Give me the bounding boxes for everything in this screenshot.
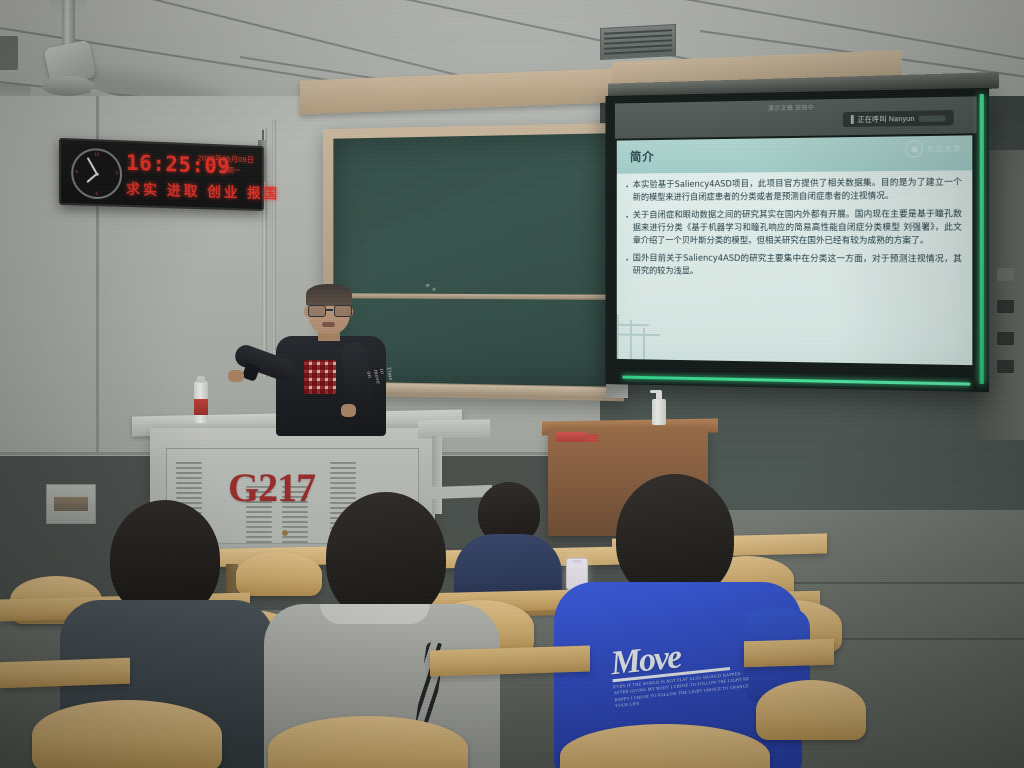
call-indicator-icon xyxy=(850,115,853,124)
desk-row xyxy=(430,645,590,676)
hand-sanitizer-bottle xyxy=(652,399,666,425)
led-date-display: 2022年05月09日 xyxy=(198,152,255,165)
os-taskbar[interactable]: 演示文稿 放映中 正在呼叫 Nanyun xyxy=(615,96,977,138)
clock-numeral-12: 12 xyxy=(94,151,99,156)
shirt-collar xyxy=(320,604,430,624)
red-box-small xyxy=(586,434,598,442)
logo-ring-icon xyxy=(905,140,922,158)
chair[interactable] xyxy=(32,700,222,768)
logo-text: 东北大学 xyxy=(927,143,962,154)
podium-side-shelf xyxy=(418,419,490,438)
clock-minute-hand xyxy=(87,157,98,174)
desk-row xyxy=(744,639,834,668)
podium-lock-knob[interactable] xyxy=(282,530,288,536)
led-clock-sign: 12 3 6 9 16:25:09 2022年05月09日 星期一 求实 进取 … xyxy=(59,138,264,211)
red-box xyxy=(556,432,586,442)
presentation-slide: 简介 东北大学 本实验基于Saliency4ASD项目，此项目官方提供了相关数据… xyxy=(617,135,973,365)
student-head xyxy=(326,492,446,622)
chip-trailing-block xyxy=(919,115,946,122)
slide-corner-decoration xyxy=(617,314,672,365)
led-weekday-display: 星期一 xyxy=(220,165,240,176)
analog-clock-face: 12 3 6 9 xyxy=(71,147,122,199)
eyeglasses-icon xyxy=(308,305,350,315)
presenter-left-hand xyxy=(228,370,244,382)
presenter: Time to move on xyxy=(258,286,408,436)
projector-screen: 演示文稿 放映中 正在呼叫 Nanyun 简介 东北大学 本实验基于Salien… xyxy=(606,88,990,392)
call-status-text: 正在呼叫 Nanyun xyxy=(858,113,915,124)
university-logo: 东北大学 xyxy=(905,140,962,158)
desk-row xyxy=(0,658,130,689)
screen-bottom-glow xyxy=(622,376,970,386)
screen-edge-glow xyxy=(980,94,984,384)
wall-mount-bracket xyxy=(0,36,18,70)
slide-bullet: 国外目前关于Saliency4ASD的研究主要集中在分类这一方面，对于预测注视情… xyxy=(624,253,962,280)
slide-bullet: 本实验基于Saliency4ASD项目，此项目官方提供了相关数据集。目的是为了建… xyxy=(624,176,962,205)
chair[interactable] xyxy=(756,680,866,740)
led-motto-display: 求实 进取 创业 报国 xyxy=(126,179,256,203)
slide-title: 简介 xyxy=(630,148,655,165)
ceiling-air-vent xyxy=(600,24,676,60)
water-bottle xyxy=(194,381,208,423)
presenter-hair xyxy=(306,284,352,306)
clock-numeral-6: 6 xyxy=(95,191,98,196)
call-status-chip[interactable]: 正在呼叫 Nanyun xyxy=(842,110,953,127)
presenter-right-hand xyxy=(341,404,356,417)
presenter-mouth xyxy=(322,322,335,327)
classroom-photo: 演示文稿 放映中 正在呼叫 Nanyun 简介 东北大学 本实验基于Salien… xyxy=(0,0,1024,768)
slide-bullet-list: 本实验基于Saliency4ASD项目，此项目官方提供了相关数据集。目的是为了建… xyxy=(624,176,962,360)
clock-numeral-9: 9 xyxy=(75,169,78,174)
slide-bullet: 关于自闭症和眼动数据之间的研究其实在国内外都有开展。国内现在主要是基于瞳孔数据来… xyxy=(624,208,962,248)
taskbar-center-text: 演示文稿 放映中 xyxy=(768,103,814,113)
clock-numeral-3: 3 xyxy=(115,170,118,175)
